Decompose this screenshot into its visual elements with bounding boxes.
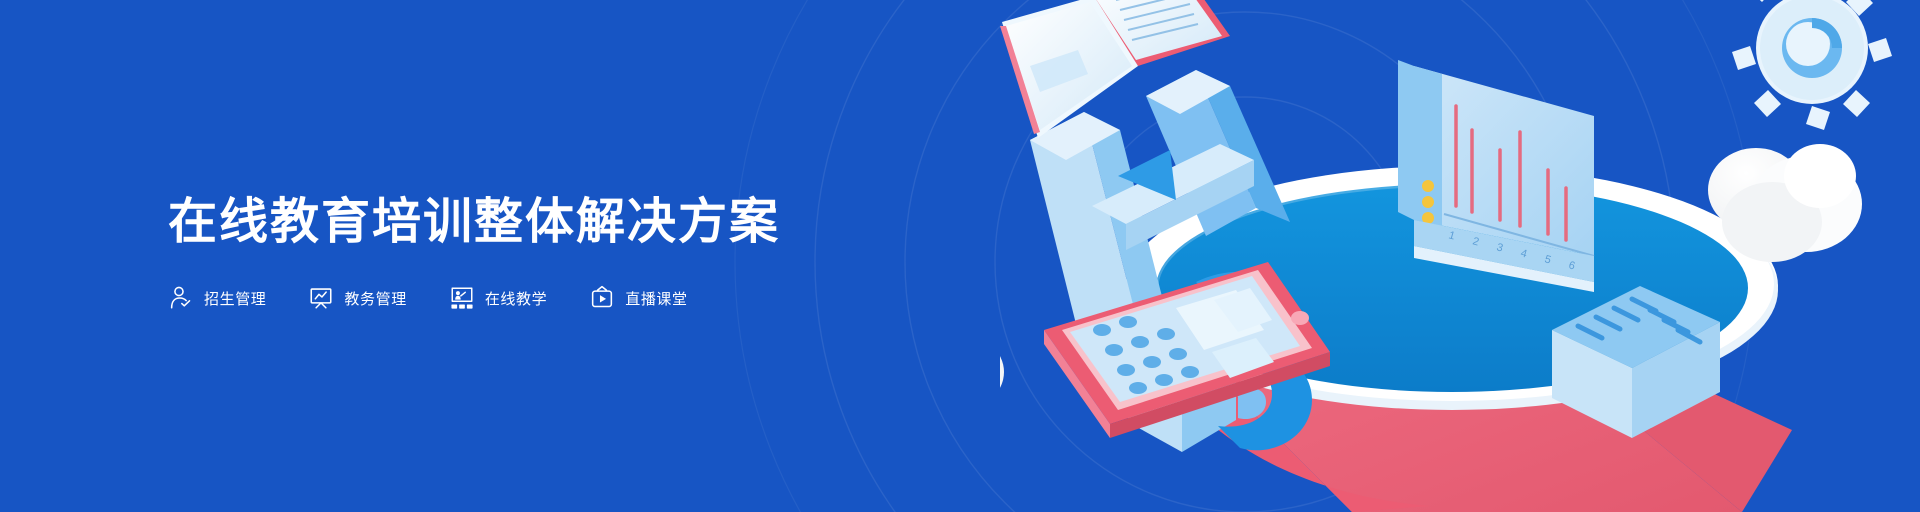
classroom-teaching-icon [449, 285, 475, 311]
feature-item-academic-affairs[interactable]: 教务管理 [308, 285, 406, 311]
live-tv-play-icon [589, 285, 615, 311]
cloud-small [1000, 318, 1004, 410]
feature-list: 招生管理 教务管理 [168, 285, 868, 311]
feature-label: 教务管理 [344, 288, 406, 309]
user-check-icon [168, 285, 194, 311]
education-hero-banner: 1 2 3 4 5 6 [0, 0, 1920, 512]
isometric-illustration: 1 2 3 4 5 6 [1000, 0, 1920, 512]
banner-content: 在线教育培训整体解决方案 招生管理 教务管理 [168, 0, 868, 512]
page-title: 在线教育培训整体解决方案 [168, 195, 868, 250]
gear-icon [1732, 0, 1892, 130]
chart-monitor: 1 2 3 4 5 6 [1398, 60, 1594, 292]
feature-label: 招生管理 [204, 288, 266, 309]
cloud-large [1708, 144, 1862, 262]
feature-item-enrollment[interactable]: 招生管理 [168, 285, 266, 311]
feature-item-live-classroom[interactable]: 直播课堂 [589, 285, 687, 311]
feature-label: 在线教学 [485, 288, 547, 309]
presentation-chart-icon [308, 285, 334, 311]
feature-item-online-teaching[interactable]: 在线教学 [449, 285, 547, 311]
feature-label: 直播课堂 [625, 288, 687, 309]
